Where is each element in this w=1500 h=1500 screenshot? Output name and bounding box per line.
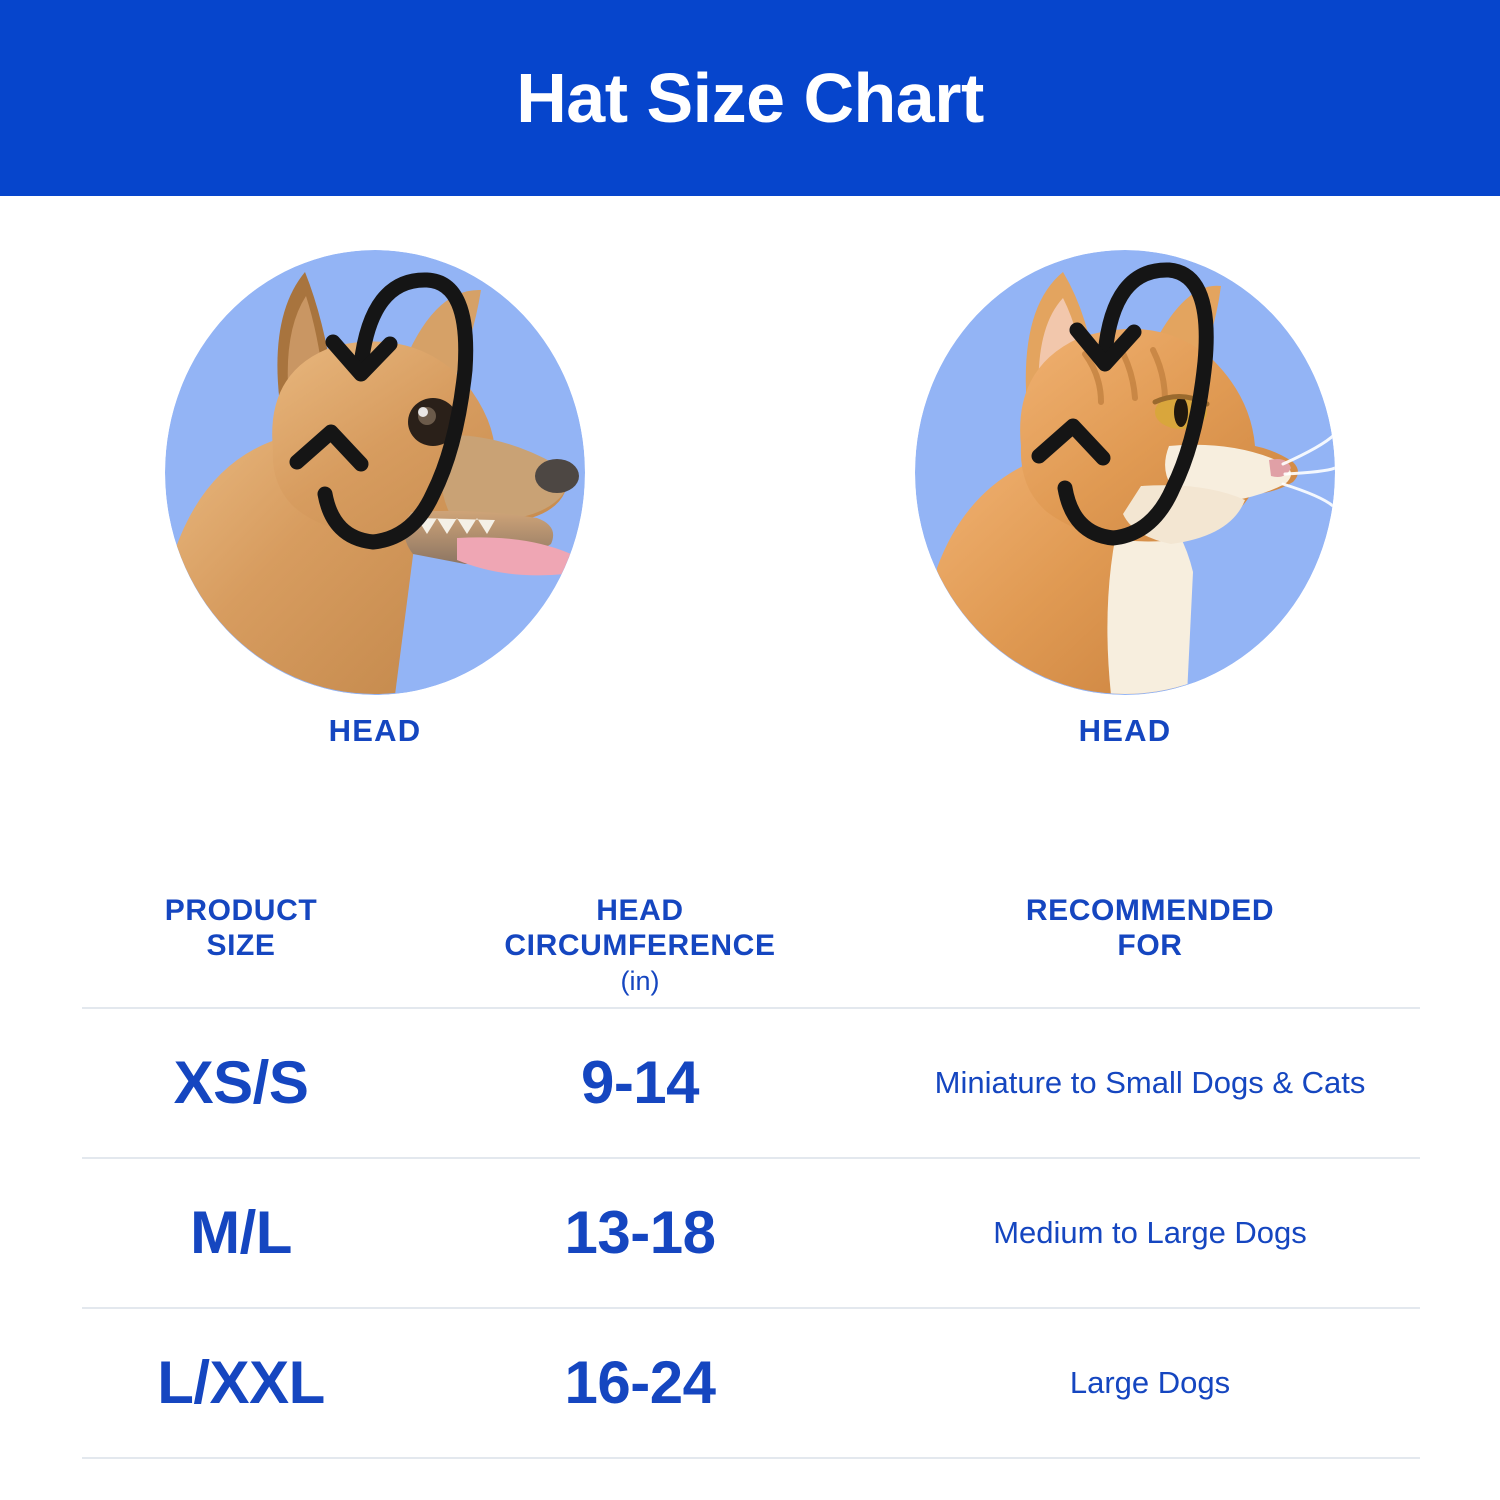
column-header-recommended-for-line1: RECOMMENDED (1026, 894, 1274, 927)
column-header-product-size-line1: PRODUCT (165, 894, 318, 927)
table-divider (82, 1457, 1420, 1459)
cat-head-label: HEAD (1079, 713, 1172, 749)
cell-product-size: XS/S (82, 1051, 400, 1114)
table-row: L/XXL 16-24 Large Dogs (82, 1309, 1420, 1457)
dog-profile-graphic (165, 250, 585, 695)
illustration-row: HEAD (0, 250, 1500, 800)
cell-recommended-for: Large Dogs (880, 1363, 1420, 1403)
column-header-product-size-line2: SIZE (206, 929, 275, 962)
cell-product-size: L/XXL (82, 1351, 400, 1414)
dog-head-label: HEAD (329, 713, 422, 749)
page-title: Hat Size Chart (516, 63, 984, 133)
cat-profile-graphic (915, 250, 1335, 695)
header-band: Hat Size Chart (0, 0, 1500, 196)
column-header-head-circumference-unit: (in) (400, 966, 880, 997)
table-row: M/L 13-18 Medium to Large Dogs (82, 1159, 1420, 1307)
cell-head-circumference: 16-24 (400, 1351, 880, 1414)
dog-illustration-cell: HEAD (0, 250, 750, 800)
cell-product-size: M/L (82, 1201, 400, 1264)
column-header-head-circumference-line1: HEAD (596, 894, 683, 927)
hat-size-chart-page: Hat Size Chart (0, 0, 1500, 1500)
size-table: PRODUCT SIZE HEAD CIRCUMFERENCE (in) REC… (82, 880, 1420, 1459)
dog-head-measurement-photo (165, 250, 585, 695)
column-header-recommended-for-line2: FOR (1117, 929, 1182, 962)
cell-recommended-for: Miniature to Small Dogs & Cats (880, 1063, 1420, 1103)
column-header-head-circumference-line2: CIRCUMFERENCE (504, 929, 775, 962)
cell-head-circumference: 9-14 (400, 1051, 880, 1114)
table-header-row: PRODUCT SIZE HEAD CIRCUMFERENCE (in) REC… (82, 880, 1420, 1007)
cell-head-circumference: 13-18 (400, 1201, 880, 1264)
cell-recommended-for: Medium to Large Dogs (880, 1213, 1420, 1253)
cat-head-measurement-photo (915, 250, 1335, 695)
cat-illustration-cell: HEAD (750, 250, 1500, 800)
table-row: XS/S 9-14 Miniature to Small Dogs & Cats (82, 1009, 1420, 1157)
column-header-head-circumference: HEAD CIRCUMFERENCE (in) (400, 880, 880, 997)
column-header-product-size: PRODUCT SIZE (82, 880, 400, 964)
column-header-recommended-for: RECOMMENDED FOR (880, 880, 1420, 964)
